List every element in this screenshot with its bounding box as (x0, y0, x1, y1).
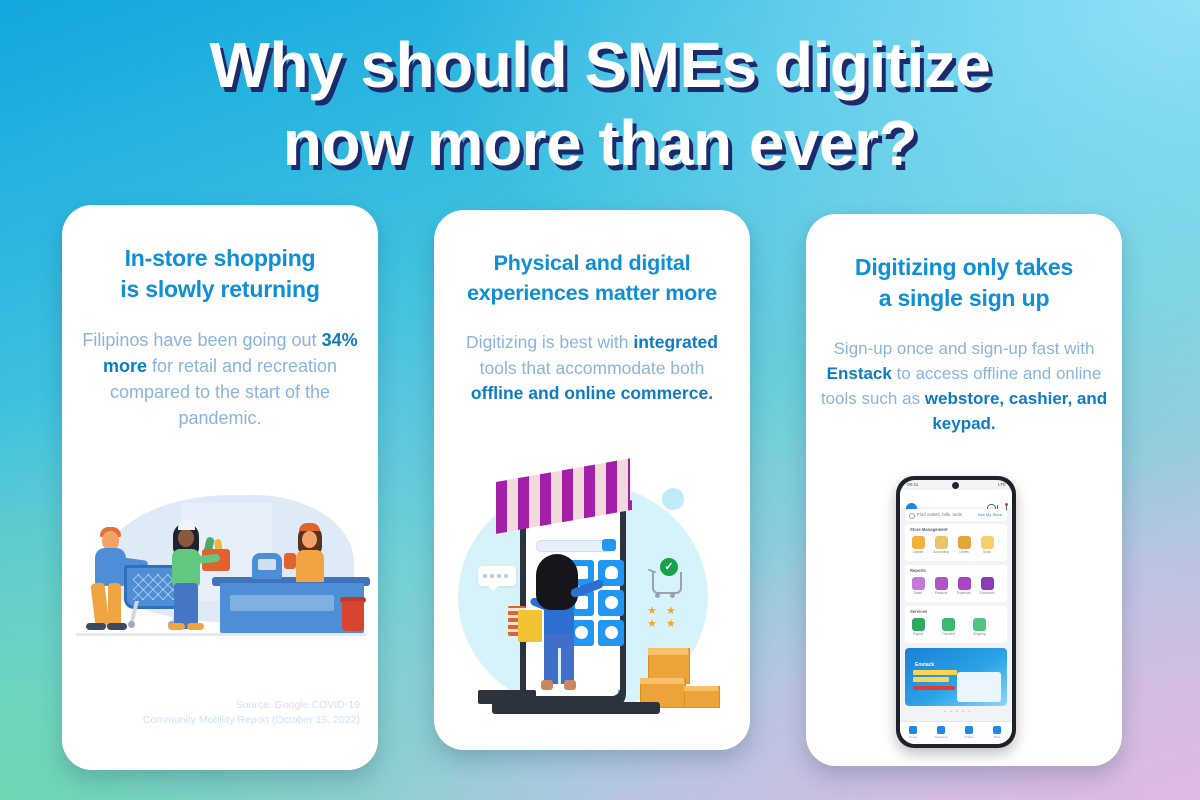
app-tile-expenses[interactable]: Expenses (956, 577, 972, 595)
payment-icon (942, 618, 955, 631)
source-citation: Source: Google COVID-19 Community Mobili… (80, 698, 360, 728)
app-tile-orders[interactable]: Orders (956, 536, 972, 554)
app-top-bar (900, 490, 1012, 507)
app-tile-cashier[interactable]: Cashier (910, 536, 926, 554)
card-2-heading: Physical and digital experiences matter … (434, 210, 750, 308)
tile-label: Cashier (910, 550, 926, 554)
rating-stars: ★ ★ ★ ★ (647, 604, 693, 630)
products-icon (935, 577, 948, 590)
card-3-title-line-1: Digitizing only takes (826, 252, 1102, 283)
nav-label: Webstore (928, 735, 954, 739)
card-3-body: Sign-up once and sign-up fast with Ensta… (806, 336, 1122, 436)
card-2-title-line-2: experiences matter more (454, 278, 730, 308)
card-1-body: Filipinos have been going out 34% more f… (62, 327, 378, 431)
expenses-icon (958, 577, 971, 590)
app-tile-customers[interactable]: Customers (979, 577, 995, 595)
poster-canvas: Why should SMEs digitize now more than e… (0, 0, 1200, 800)
nav-item-home[interactable]: Home (900, 726, 926, 739)
card-3-title-line-2: a single sign up (826, 283, 1102, 314)
title-line-2: now more than ever? (0, 104, 1200, 182)
app-tile-payout[interactable]: Payout (910, 618, 926, 636)
status-time: 09:41 (907, 482, 918, 487)
accounting-icon (935, 536, 948, 549)
body-emphasis: offline and online commerce. (471, 383, 713, 403)
mobile-storefront-illustration: ✓ ★ ★ ★ ★ (434, 462, 750, 742)
card-2-body: Digitizing is best with integrated tools… (434, 330, 750, 407)
tile-label: Shipping (971, 632, 987, 636)
stock-icon (981, 536, 994, 549)
package-boxes-icon (640, 638, 726, 708)
tile-label: Payment (941, 632, 957, 636)
chat-bubble-icon (478, 566, 516, 586)
body-text: tools that accommodate both (480, 358, 705, 378)
shipping-icon (973, 618, 986, 631)
card-2-title-line-1: Physical and digital (454, 248, 730, 278)
app-search-bar[interactable]: Find orders, bills, tools See My Store (905, 509, 1007, 521)
tile-label: Orders (956, 550, 972, 554)
banner-logo: Enstack (915, 662, 934, 668)
source-line-2: Community Mobility Report (October 15, 2… (80, 713, 360, 728)
app-tile-payment[interactable]: Payment (941, 618, 957, 636)
card-in-store-shopping: In-store shopping is slowly returning Fi… (62, 205, 378, 770)
payout-icon (912, 618, 925, 631)
section-0-heading: Store Management (910, 527, 947, 532)
section-1-heading: Reports (910, 568, 926, 573)
nav-label: More (984, 735, 1010, 739)
tile-label: Payout (910, 632, 926, 636)
orders-icon (965, 726, 973, 734)
card-1-title-line-2: is slowly returning (82, 274, 358, 305)
section-2-heading: Services (910, 609, 927, 614)
tile-label: Accounting (933, 550, 949, 554)
status-signal: LTE (998, 482, 1006, 487)
app-bottom-nav: HomeWebstoreOrdersMore (900, 721, 1012, 744)
tile-label: Expenses (956, 591, 972, 595)
card-3-heading: Digitizing only takes a single sign up (806, 214, 1122, 314)
body-emphasis: integrated (633, 332, 718, 352)
body-emphasis: webstore, cashier, and keypad. (925, 389, 1107, 433)
app-tile-stock[interactable]: Stock (979, 536, 995, 554)
webstore-icon (937, 726, 945, 734)
card-1-title-line-1: In-store shopping (82, 243, 358, 274)
section-store-management: Store Management CashierAccountingOrders… (905, 524, 1007, 561)
card-single-sign-up: Digitizing only takes a single sign up S… (806, 214, 1122, 766)
app-tile-products[interactable]: Products (933, 577, 949, 595)
body-emphasis: Enstack (827, 364, 892, 383)
banner-illustration (957, 672, 1001, 702)
section-reports: Reports SalesProductsExpensesCustomers (905, 565, 1007, 602)
card-1-heading: In-store shopping is slowly returning (62, 205, 378, 305)
carousel-dots[interactable]: • • • • • (944, 709, 972, 715)
more-icon (993, 726, 1001, 734)
app-tile-sales[interactable]: Sales (910, 577, 926, 595)
home-icon (909, 726, 917, 734)
notification-dot-icon (1005, 503, 1008, 506)
cashier-icon (912, 536, 925, 549)
nav-item-orders[interactable]: Orders (956, 726, 982, 739)
section-services: Services PayoutPaymentShipping (905, 606, 1007, 643)
see-store-link[interactable]: See My Store (978, 512, 1002, 517)
tile-label: Stock (979, 550, 995, 554)
app-tile-accounting[interactable]: Accounting (933, 536, 949, 554)
nav-item-webstore[interactable]: Webstore (928, 726, 954, 739)
camera-notch-icon (952, 482, 959, 489)
retail-checkout-illustration (62, 473, 378, 688)
title-line-1: Why should SMEs digitize (0, 26, 1200, 104)
nav-label: Home (900, 735, 926, 739)
orders-icon (958, 536, 971, 549)
app-tile-shipping[interactable]: Shipping (971, 618, 987, 636)
body-text: Digitizing is best with (466, 332, 633, 352)
body-text: Filipinos have been going out (82, 330, 321, 350)
page-title: Why should SMEs digitize now more than e… (0, 26, 1200, 182)
nav-label: Orders (956, 735, 982, 739)
card-physical-and-digital: Physical and digital experiences matter … (434, 210, 750, 750)
tile-label: Sales (910, 591, 926, 595)
check-badge-icon: ✓ (660, 558, 678, 576)
promo-banner[interactable]: Enstack (905, 648, 1007, 706)
customers-icon (981, 577, 994, 590)
tile-label: Products (933, 591, 949, 595)
sales-icon (912, 577, 925, 590)
enstack-app-phone-mockup: 09:41 LTE Find orders, bills, tools See … (806, 466, 1122, 756)
body-text: Sign-up once and sign-up fast with (834, 339, 1095, 358)
search-placeholder: Find orders, bills, tools (917, 512, 962, 517)
tile-label: Customers (979, 591, 995, 595)
search-icon (909, 513, 915, 519)
source-line-1: Source: Google COVID-19 (80, 698, 360, 713)
nav-item-more[interactable]: More (984, 726, 1010, 739)
